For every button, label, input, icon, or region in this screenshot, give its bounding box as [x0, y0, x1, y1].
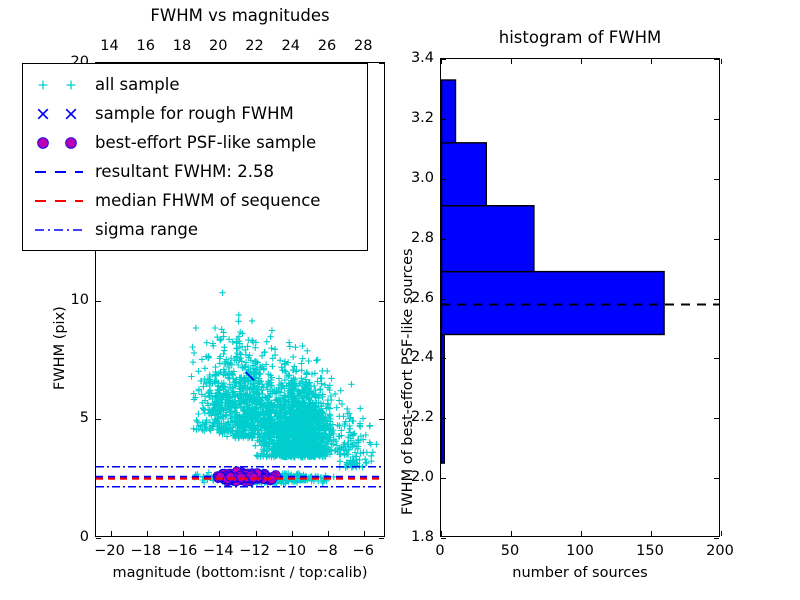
- histogram-ytick-label: 2.0: [392, 469, 434, 485]
- legend-glyph-5: [29, 218, 91, 242]
- legend-glyph-0: [29, 73, 91, 97]
- legend-glyph-1: [29, 102, 91, 126]
- histogram-ytick-label: 2.6: [392, 290, 434, 306]
- histogram-ytick-label: 2.8: [392, 230, 434, 246]
- histogram-xtick: [511, 531, 512, 536]
- legend-label: sample for rough FWHM: [91, 104, 294, 123]
- histogram-xlabel: number of sources: [440, 565, 720, 581]
- scatter-xtick-label: −18: [130, 543, 161, 559]
- histogram-top-xtick: [511, 59, 512, 64]
- histogram-xtick-label: 200: [706, 543, 734, 559]
- histogram-ytick: [441, 179, 446, 180]
- histogram-plot-area: [441, 59, 719, 536]
- dashed-line-red: [29, 189, 91, 213]
- histogram-ytick: [441, 239, 446, 240]
- histogram-xtick: [581, 531, 582, 536]
- legend-label: all sample: [91, 75, 180, 94]
- dashdot-line-blue: [29, 218, 91, 242]
- scatter-top-xtick-label: 16: [137, 38, 155, 54]
- histogram-axes: [440, 58, 720, 537]
- scatter-xtick: [111, 531, 112, 536]
- scatter-xtick-label: −8: [316, 543, 337, 559]
- histogram-xtick: [721, 531, 722, 536]
- histogram-xtick-label: 150: [636, 543, 664, 559]
- histogram-ytick-label: 3.0: [392, 170, 434, 186]
- histogram-ytick-label: 2.4: [392, 349, 434, 365]
- scatter-title: FWHM vs magnitudes: [95, 6, 385, 25]
- histogram-ytick-right: [714, 119, 719, 120]
- histogram-ytick: [441, 119, 446, 120]
- legend-label: best-effort PSF-like sample: [91, 133, 316, 152]
- histogram-ytick-right: [714, 538, 719, 539]
- scatter-top-xtick-label: 14: [100, 38, 118, 54]
- histogram-top-xtick: [651, 59, 652, 64]
- legend-glyph-3: [29, 160, 91, 184]
- histogram-ytick-right: [714, 179, 719, 180]
- histogram-ytick-right: [714, 59, 719, 60]
- scatter-xtick-label: −10: [275, 543, 306, 559]
- scatter-ytick-label: 0: [49, 529, 89, 545]
- histogram-ytick: [441, 418, 446, 419]
- scatter-xtick: [364, 531, 365, 536]
- scatter-xtick-label: −20: [94, 543, 125, 559]
- scatter-ytick: [96, 538, 101, 539]
- scatter-ytick-label: 10: [49, 292, 89, 308]
- scatter-ytick: [96, 301, 101, 302]
- histogram-xtick-label: 50: [501, 543, 519, 559]
- scatter-top-xtick-label: 26: [318, 38, 336, 54]
- legend-item[interactable]: median FHWM of sequence: [29, 186, 359, 215]
- histogram-ytick: [441, 478, 446, 479]
- legend-glyph-2: [29, 131, 91, 155]
- scatter-top-xtick-label: 20: [209, 38, 227, 54]
- scatter-top-xtick-label: 24: [282, 38, 300, 54]
- histogram-ytick-right: [714, 239, 719, 240]
- histogram-xtick: [441, 531, 442, 536]
- histogram-title: histogram of FWHM: [440, 28, 720, 47]
- cross-marker: [29, 102, 91, 126]
- scatter-ytick-right: [379, 63, 384, 64]
- scatter-xtick-label: −6: [353, 543, 374, 559]
- legend-glyph-4: [29, 189, 91, 213]
- scatter-xtick: [256, 531, 257, 536]
- histogram-ytick-right: [714, 299, 719, 300]
- scatter-xlabel: magnitude (bottom:isnt / top:calib): [72, 565, 408, 581]
- histogram-ytick-label: 3.2: [392, 110, 434, 126]
- legend-item[interactable]: best-effort PSF-like sample: [29, 128, 359, 157]
- histogram-ytick-label: 2.2: [392, 409, 434, 425]
- dashed-line-blue: [29, 160, 91, 184]
- histogram-ytick-label: 3.4: [392, 50, 434, 66]
- scatter-ytick-right: [379, 538, 384, 539]
- scatter-xtick-label: −14: [203, 543, 234, 559]
- scatter-xtick: [328, 531, 329, 536]
- plot-legend[interactable]: all sample sample for rough FWHM best-ef…: [22, 63, 368, 251]
- scatter-ytick: [96, 419, 101, 420]
- histogram-top-xtick: [721, 59, 722, 64]
- scatter-ytick-right: [379, 419, 384, 420]
- figure-canvas: FWHM vs magnitudes magnitude (bottom:isn…: [0, 0, 800, 600]
- legend-label: median FHWM of sequence: [91, 191, 320, 210]
- scatter-xtick-label: −16: [167, 543, 198, 559]
- scatter-xtick: [292, 531, 293, 536]
- scatter-top-xtick-label: 22: [245, 38, 263, 54]
- plus-marker: [29, 73, 91, 97]
- scatter-xtick: [219, 531, 220, 536]
- legend-label: sigma range: [91, 220, 198, 239]
- legend-label: resultant FWHM: 2.58: [91, 162, 274, 181]
- scatter-ytick-right: [379, 301, 384, 302]
- circle-marker: [29, 131, 91, 155]
- legend-item[interactable]: all sample: [29, 70, 359, 99]
- scatter-xtick: [183, 531, 184, 536]
- scatter-ylabel: FWHM (pix): [52, 306, 68, 390]
- scatter-xtick: [147, 531, 148, 536]
- histogram-xtick-label: 0: [435, 543, 444, 559]
- scatter-xtick-label: −12: [239, 543, 270, 559]
- histogram-ytick: [441, 358, 446, 359]
- scatter-top-xtick-label: 18: [173, 38, 191, 54]
- histogram-xtick: [651, 531, 652, 536]
- scatter-ytick-label: 5: [49, 410, 89, 426]
- histogram-ytick-right: [714, 478, 719, 479]
- histogram-ytick-right: [714, 358, 719, 359]
- legend-item[interactable]: resultant FWHM: 2.58: [29, 157, 359, 186]
- histogram-bars-layer: [441, 59, 719, 536]
- legend-item[interactable]: sigma range: [29, 215, 359, 244]
- histogram-ytick-label: 1.8: [392, 529, 434, 545]
- histogram-ytick: [441, 299, 446, 300]
- scatter-top-xtick-label: 28: [354, 38, 372, 54]
- histogram-ytick: [441, 538, 446, 539]
- histogram-ytick: [441, 59, 446, 60]
- histogram-xtick-label: 100: [566, 543, 594, 559]
- histogram-ytick-right: [714, 418, 719, 419]
- histogram-top-xtick: [581, 59, 582, 64]
- legend-item[interactable]: sample for rough FWHM: [29, 99, 359, 128]
